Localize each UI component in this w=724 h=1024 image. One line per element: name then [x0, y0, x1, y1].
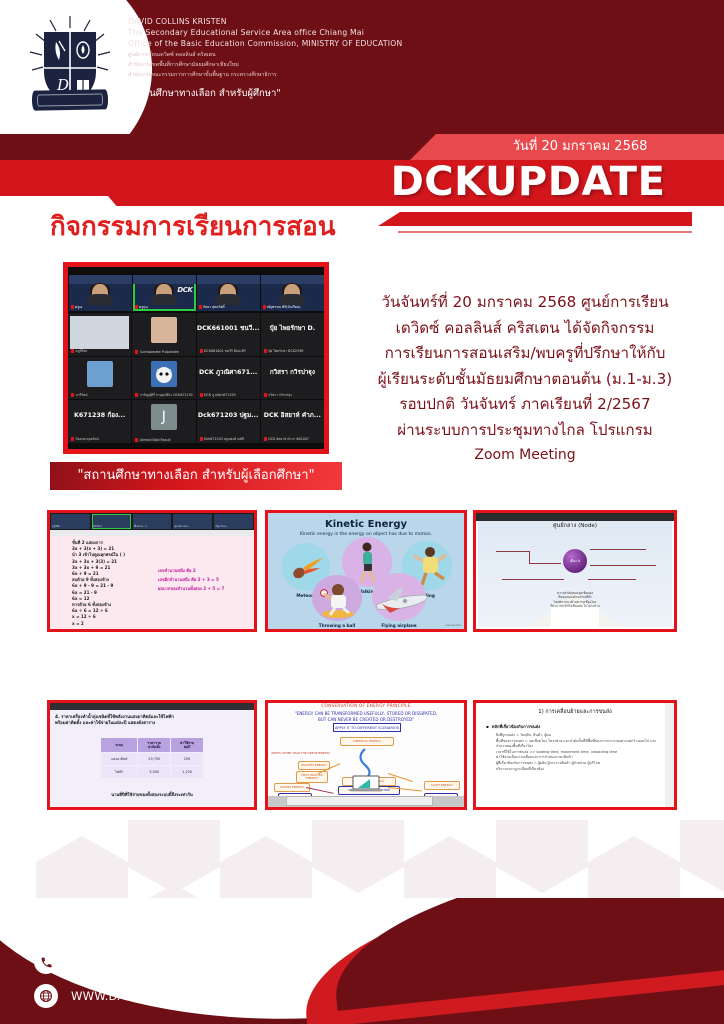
list-item: DCK อิสยาห์ คำภ... DCK อิสยาห์ คำภา 6610…: [261, 400, 324, 443]
question-text: 4. ราคาเครื่องทำน้ำอุ่นชนิดที่ใช้พลังงาน…: [55, 715, 249, 728]
energy-node: HEAT WASTED ENERGY: [296, 771, 328, 783]
participant-name: กัลยา สุดสวัสดิ์: [199, 305, 225, 310]
participant-name: ก้องภพ ดุลยรัตน์: [71, 437, 99, 442]
energy-node: LIGHT ENERGY: [424, 781, 460, 790]
body-line-3: การเรียนการสอนเสริม/พบครูที่ปรึกษาให้กับ: [342, 341, 708, 367]
conservation-quote-1: "ENERGY CAN BE TRANSFORMED USEFULLY, STO…: [268, 711, 464, 716]
conservation-side-note: (PARTS OTHER THAN THE ONE INTENDED): [271, 751, 330, 755]
node-caption: ความสำคัญของจุดเชื่อมต่อ ที่ตอบสนองด้านท…: [476, 591, 674, 609]
list-item: K671238 ก้อง... ก้องภพ ดุลยรัตน์: [68, 400, 131, 443]
participant-name: ณัฐพรรณ ศิริ(นักเรียน): [263, 305, 301, 310]
poster-header: D DAVID COLLINS KRISTEN The Secondary Ed…: [0, 0, 724, 134]
participant-name: กวิสรา กวิรปาฐุง: [264, 393, 292, 398]
contact-website-row[interactable]: WWW.DAVIDCOLLINS.AC.TH: [34, 984, 237, 1008]
thumbnail-kinetic-energy: Kinetic Energy Kinetic energy is the ene…: [265, 510, 467, 632]
throwing-ball-icon: [318, 579, 358, 619]
list-item: ครูศิริพร: [68, 313, 131, 356]
conservation-subtitle: APPLY IT TO DIFFERENT SCENARIOS: [333, 723, 401, 732]
body-platform: Zoom Meeting: [342, 443, 708, 469]
math-note: เลขอีกจำนวนหนึ่ง คือ 2 + 3 = 5: [158, 575, 224, 584]
list-item: DCK661001 ชนวี... DCK661001 ชนวีร์ ศิลปะ…: [197, 313, 260, 356]
meteor-icon: [288, 555, 326, 581]
cell-annual-cost: 1,100: [171, 766, 203, 778]
shared-document-page: ขั้นที่ 2 แสดงการ 3x + 3(x + 3) = 21 นำ …: [50, 536, 254, 629]
list-item: การัญญ์ศิริ์ กาญจน์ธีระ DCK671191: [132, 357, 195, 400]
participant-display-name: Dck671203 ปฐม...: [197, 410, 260, 420]
thumbnail-transport-slide: 1) การเคลื่อนย้ายและการขนส่ง หลักที่เกี่…: [473, 700, 677, 810]
participant-name: การัญญ์ศิริ์ กาญจน์ธีระ DCK671191: [135, 393, 193, 398]
section-title: กิจกรรมการเรียนการสอน: [50, 206, 336, 247]
org-th-line-1: ศูนย์การเรียนเดวิดซ์ คอลลินส์ คริสเตน: [128, 51, 402, 59]
body-line-1: วันจันทร์ที่ 20 มกราคม 2568 ศูนย์การเรีย…: [342, 290, 708, 316]
network-line: [496, 551, 530, 552]
participant-name: Ahmad Bilal Rasuli: [135, 438, 170, 442]
org-th-line-2: สำนักงานเขตพื้นที่การศึกษามัธยมศึกษาเชีย…: [128, 61, 402, 69]
network-line: [529, 551, 530, 563]
banner-date: วันที่ 20 มกราคม 2568: [436, 134, 724, 160]
cell-install-cost: 5,000: [138, 766, 170, 778]
participant-body: [87, 294, 113, 305]
org-en-line-2: The Secondary Educational Service Area o…: [128, 27, 402, 38]
avatar: [87, 361, 113, 387]
list-item: กวิสรา กวิรปาฐุง กวิสรา กวิรปาฐุง: [261, 357, 324, 400]
kinetic-credit: sciencenotes: [445, 624, 461, 627]
thumbnail-node-diagram: ศูนย์กลาง (Node) เมือง A ความสำคัญของจุด…: [473, 510, 677, 632]
zoom-tile: สุภาพร ทอง...: [173, 514, 212, 529]
participant-display-name: DCK ภูวณิศา671...: [197, 367, 260, 377]
shared-screen-thumb: [70, 316, 129, 349]
cell-system: แสงอาทิตย์: [101, 753, 137, 765]
kinetic-label: Flying airplane: [368, 623, 430, 628]
bullet-item: บริการและกฎระเบียบที่เกี่ยวข้อง: [496, 767, 666, 773]
transport-bullets: สิ่งที่ถูกขนส่ง = วัตถุดิบ, สินค้า, ผู้ค…: [496, 733, 666, 772]
table-row: แสงอาทิตย์ 29,700 250: [101, 753, 203, 765]
participant-display-name: ปุ๋ย ไพยรักษา D.: [261, 323, 324, 333]
org-en-line-1: DAVID COLLINS KRISTEN: [128, 16, 402, 27]
hex-shape: [496, 820, 588, 867]
participant-name: DCK อิสยาห์ คำภา 661007: [264, 437, 309, 442]
dck-watermark: DCK: [177, 286, 192, 294]
avatar: [151, 361, 177, 387]
participant-name: Dck671203 ปฐมพงศ์ จงศิริ: [200, 437, 245, 442]
participant-body: [215, 294, 241, 305]
participant-body: [279, 294, 305, 305]
energy-node: WASTED ENERGY: [298, 761, 330, 770]
contact-phone-row[interactable]: ปรึกษาเรื่องเรียน 092-261-5119 (ไม่มีวัน…: [34, 950, 317, 974]
transport-title: 1) การเคลื่อนย้ายและการขนส่ง: [476, 708, 674, 716]
banner-title: DCKUPDATE: [350, 158, 706, 206]
header-org-text: DAVID COLLINS KRISTEN The Secondary Educ…: [128, 16, 402, 101]
globe-icon: [34, 984, 58, 1008]
body-line-2: เดวิดซ์ คอลลินส์ คริสเตน ได้จัดกิจกรรม: [342, 316, 708, 342]
node-label: เมือง A: [563, 549, 587, 573]
participant-name: เด็กชาย...ฯ: [134, 525, 147, 529]
participant-name: ปุ๋ย ไพยรักษา DCK2598: [264, 349, 304, 354]
list-item: DCK ภูวณิศา671... DCK ภูวณิศา671195: [197, 357, 260, 400]
zoom-tile: กัลยา สุดสวัสดิ์: [197, 275, 260, 311]
airplane-icon: [372, 583, 430, 615]
math-note: เลขจำนวนหนึ่ง คือ 2: [158, 566, 224, 575]
thumbnail-cost-table: 4. ราคาเครื่องทำน้ำอุ่นชนิดที่ใช้พลังงาน…: [47, 700, 257, 810]
section-decor-rule: [398, 231, 692, 233]
conservation-quote-2: BUT CAN NEVER BE CREATED OR DESTROYED": [268, 717, 464, 722]
zoom-meeting-screenshot: ครูเอ DCK ครูนุ่น กัลยา สุดสวัสดิ์: [63, 262, 329, 454]
crest-ribbon: [32, 89, 108, 110]
list-item: Dck671203 ปฐม... Dck671203 ปฐมพงศ์ จงศิร…: [197, 400, 260, 443]
whiteboard-toolbar[interactable]: [476, 513, 674, 521]
network-line: [590, 549, 646, 550]
laptop-icon: [350, 775, 382, 793]
transport-heading: หลักที่เกี่ยวข้องกับการขนส่ง: [486, 723, 540, 730]
section-decor-bar: [400, 212, 692, 226]
phone-glyph: [40, 956, 53, 969]
body-line-6: ผ่านระบบการประชุมทางไกล โปรแกรม: [342, 418, 708, 444]
participant-name: ครูศิริพร: [71, 349, 87, 354]
zoom-tile: ครูเอ: [69, 275, 132, 311]
zoom-participant-grid: ครูศิริพร Suchawadee Pulpakdee DCK661001…: [68, 313, 324, 443]
zoom-top-row: ครูเอ DCK ครูนุ่น กัลยา สุดสวัสดิ์: [68, 275, 324, 311]
participant-name: สุภาพร ทอง...: [174, 525, 190, 529]
participant-name: ครูวิชัย: [52, 525, 60, 529]
footer-phone-text: ปรึกษาเรื่องเรียน 092-261-5119 (ไม่มีวัน…: [71, 953, 317, 971]
body-line-5: รอบปกติ วันจันทร์ ภาคเรียนที่ 2/2567: [342, 392, 708, 418]
participant-name: ครูนุ่น: [135, 305, 148, 310]
hex-shape: [680, 820, 724, 867]
zoom-tile-active-speaker: นักเรียน: [92, 514, 131, 529]
phone-icon: [34, 950, 58, 974]
network-line: [529, 563, 561, 564]
footer-website-text: WWW.DAVIDCOLLINS.AC.TH: [71, 989, 237, 1003]
energy-node: CHEMICAL ENERGY: [340, 737, 394, 746]
header-slogan: "สถานศึกษาทางเลือก สำหรับผู้ศึกษา": [128, 86, 402, 101]
math-eq: นำ 3 เข้าไปคูณทุกพจน์ใน ( ): [72, 552, 125, 558]
hero-caption: "สถานศึกษาทางเลือก สำหรับผู้เลือกศึกษา": [50, 462, 342, 490]
table-row: ไฟฟ้า 5,000 1,100: [101, 766, 203, 778]
column-header: ระบบ: [101, 738, 137, 752]
body-line-4: ผู้เรียนระดับชั้นมัธยมศึกษาตอนต้น (ม.1-ม…: [342, 367, 708, 393]
participant-name: นักเรียน: [93, 525, 102, 529]
org-th-line-3: สำนักงานคณะกรรมการการศึกษาขั้นพื้นฐาน กร…: [128, 71, 402, 79]
school-crest-logo: D: [16, 10, 124, 120]
zoom-tile-active-speaker[interactable]: DCK ครูนุ่น: [133, 275, 196, 311]
org-en-line-3: Office of the Basic Education Commission…: [128, 38, 402, 49]
avatar-initial: J: [151, 404, 177, 430]
energy-node: SOUND ENERGY: [274, 783, 310, 792]
zoom-tile: ณัฐวรรณ...: [214, 514, 253, 529]
participant-name: ณัฐวรรณ...: [215, 525, 228, 529]
article-body: วันจันทร์ที่ 20 มกราคม 2568 ศูนย์การเรีย…: [342, 290, 708, 469]
list-item: J Ahmad Bilal Rasuli: [132, 400, 195, 443]
network-line: [588, 579, 636, 580]
viewer-bottom-bar: [268, 796, 464, 807]
poster-footer: ปรึกษาเรื่องเรียน 092-261-5119 (ไม่มีวัน…: [0, 898, 724, 1024]
column-header: ราคารวม ค่าติดตั้ง: [138, 738, 170, 752]
dck-update-poster: D DAVID COLLINS KRISTEN The Secondary Ed…: [0, 0, 724, 1024]
math-eq: x = 2: [72, 621, 125, 627]
zoom-tile: ครูวิชัย: [51, 514, 90, 529]
zoom-strip: ครูวิชัย นักเรียน เด็กชาย...ฯ สุภาพร ทอง…: [50, 513, 254, 530]
participant-name: DCK ภูวณิศา671195: [200, 393, 236, 398]
date-chip: วันที่ 20 มกราคม 2568: [436, 134, 724, 160]
conservation-title: CONSERVATION OF ENERGY PRINCIPLE: [268, 704, 464, 709]
network-line: [502, 579, 564, 580]
table-header-row: ระบบ ราคารวม ค่าติดตั้ง ค่าใช้จ่าย ต่อปี: [101, 738, 203, 752]
cell-annual-cost: 250: [171, 753, 203, 765]
math-work: ขั้นที่ 2 แสดงการ 3x + 3(x + 3) = 21 นำ …: [72, 540, 125, 627]
participant-display-name: กวิสรา กวิรปาฐุง: [261, 367, 324, 377]
thumbnail-conservation-energy: CONSERVATION OF ENERGY PRINCIPLE "ENERGY…: [265, 700, 467, 810]
participant-display-name: K671238 ก้อง...: [68, 410, 131, 420]
cell-install-cost: 29,700: [138, 753, 170, 765]
participant-body: [151, 294, 177, 305]
kinetic-label: Throwing a ball: [308, 623, 366, 628]
cost-comparison-table: ระบบ ราคารวม ค่าติดตั้ง ค่าใช้จ่าย ต่อปี…: [100, 737, 204, 779]
zoom-gallery: ครูเอ DCK ครูนุ่น กัลยา สุดสวัสดิ์: [68, 267, 324, 449]
participant-name: DCK661001 ชนวีร์ ศิลปะศิริ: [200, 349, 246, 354]
scroll-track[interactable]: [286, 796, 433, 806]
math-notes: เลขจำนวนหนึ่ง คือ 2 เลขอีกจำนวนหนึ่ง คือ…: [158, 566, 224, 593]
globe-glyph: [39, 989, 53, 1003]
node-title: ศูนย์กลาง (Node): [476, 522, 674, 530]
participant-display-name: DCK661001 ชนวี...: [197, 323, 260, 333]
cat-avatar-icon: [151, 361, 177, 387]
slide-side-panel: [665, 703, 674, 807]
participant-name: นารีรัตน์: [71, 393, 88, 398]
zoom-strip: [50, 703, 254, 710]
participant-display-name: DCK อิสยาห์ คำภ...: [261, 410, 324, 420]
math-note: ผลบวกของจำนวนทั้งสอง 2 + 5 = 7: [158, 584, 224, 593]
column-header: ค่าใช้จ่าย ต่อปี: [171, 738, 203, 752]
kinetic-title: Kinetic Energy: [268, 519, 464, 530]
list-item: Suchawadee Pulpakdee: [132, 313, 195, 356]
zoom-tile: ณัฐพรรณ ศิริ(นักเรียน): [261, 275, 324, 311]
list-item: ปุ๋ย ไพยรักษา D. ปุ๋ย ไพยรักษา DCK2598: [261, 313, 324, 356]
bullet-item: พื้นที่ของการขนส่ง = จุดเชื่อมโยง โครงข่…: [496, 739, 666, 750]
avatar: [151, 317, 177, 343]
banner-dark-wedge: [0, 134, 480, 160]
cell-system: ไฟฟ้า: [101, 766, 137, 778]
participant-name: Suchawadee Pulpakdee: [135, 350, 179, 354]
participant-name: ครูเอ: [71, 305, 83, 310]
table-footnote: นานที่ปีที่ใช้จ่ายของทั้งสองระบบนี้จึงจะ…: [50, 791, 254, 798]
center-node: เมือง A: [563, 549, 587, 573]
thumbnail-math-lesson: ครูวิชัย นักเรียน เด็กชาย...ฯ สุภาพร ทอง…: [47, 510, 257, 632]
hex-shape: [312, 820, 404, 867]
zoom-tile: เด็กชาย...ฯ: [133, 514, 172, 529]
network-line: [590, 565, 656, 566]
hex-shape: [128, 820, 220, 867]
list-item: นารีรัตน์: [68, 357, 131, 400]
